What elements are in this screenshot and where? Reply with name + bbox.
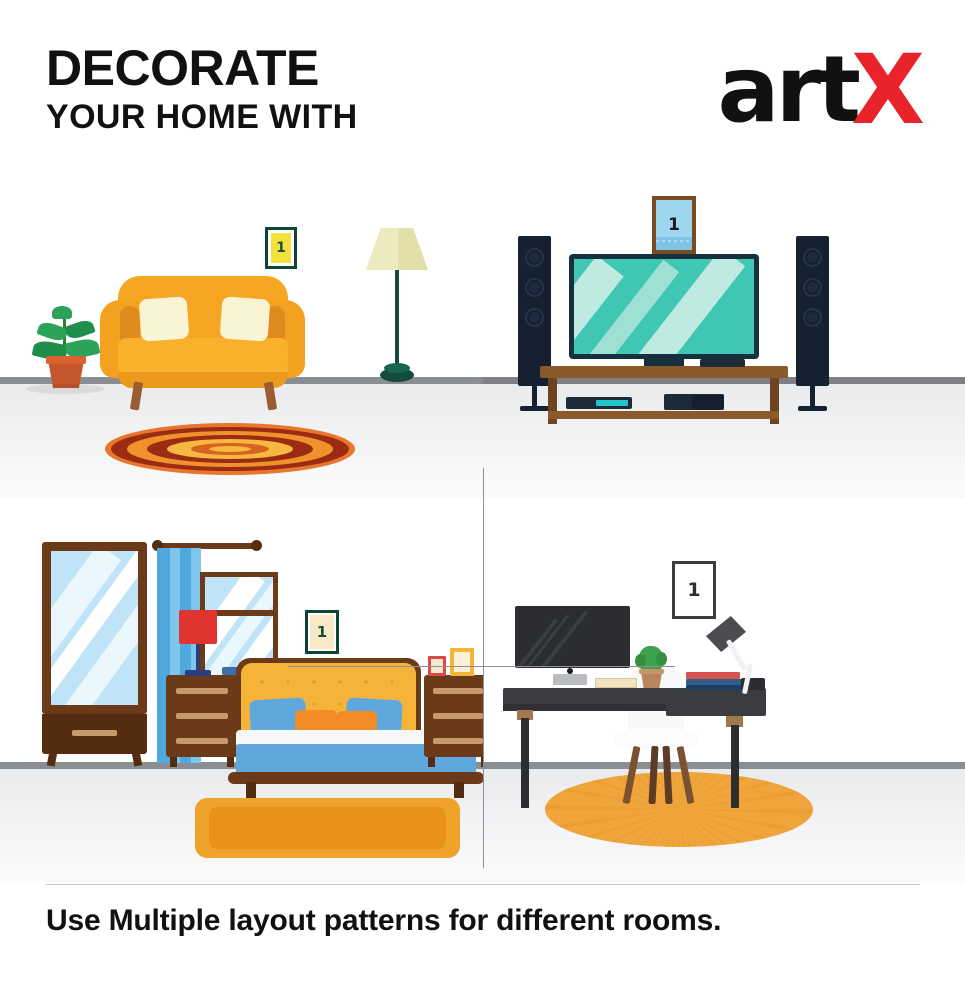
divider-vertical [483,468,484,868]
framed-picture-home-office[interactable]: 1 [672,561,716,619]
brand-logo: art X [718,36,923,136]
frame-artwork: 1 [675,564,713,616]
frame-mat: 1 [308,613,336,651]
frame-number: 1 [668,215,680,235]
office-side-desk [666,688,766,808]
frame-artwork: 1 [271,233,291,263]
media-device-top [700,359,745,367]
office-monitor [515,606,630,688]
living-room-floor-lamp [362,228,432,390]
plant-shadow [26,384,104,394]
framed-picture-bedroom[interactable]: 1 [305,610,339,654]
living-room-potted-plant [30,298,100,388]
scene-bedroom [0,500,483,883]
framed-picture-living-room[interactable]: 1 [265,227,297,269]
office-desk-lamp [698,608,778,690]
headline-line-2: YOUR HOME WITH [46,97,358,137]
frame-number: 1 [317,623,327,641]
tv-room-tv-stand [540,366,788,426]
frame-mat: 1 [268,230,294,266]
bedroom-photo-frames [428,648,483,678]
bedroom-nightstand-right [424,675,483,765]
divider-horizontal [288,666,675,667]
scene-home-office [483,500,965,883]
header: DECORATE YOUR HOME WITH art X [0,0,965,170]
frame-number: 1 [687,579,700,601]
scene-grid [0,168,965,883]
frame-artwork: 1 [310,615,334,649]
page-title: DECORATE YOUR HOME WITH [46,42,358,137]
bedroom-area-rug [195,798,460,858]
bottom-divider-rule [46,884,920,885]
tv-room-right-speaker [796,236,829,416]
brand-logo-accent: X [851,44,923,136]
poster-root: DECORATE YOUR HOME WITH art X [0,0,965,1000]
bedroom-mirror-dresser [42,542,147,764]
living-room-sofa [100,276,305,401]
frame-number: 1 [276,240,286,256]
framed-picture-tv-room[interactable]: 1 [652,196,696,254]
living-room-oval-rug [105,423,355,475]
office-desk [503,688,673,808]
office-papers [595,678,637,688]
headline-line-1: DECORATE [46,42,358,94]
caption-text: Use Multiple layout patterns for differe… [46,904,926,938]
scene-tv-room [483,168,965,498]
bedroom-table-lamp [176,610,221,678]
frame-artwork: 1 [656,200,692,250]
frame-water-detail [656,237,692,250]
bedroom-nightstand-left [166,675,238,765]
office-potted-plant [635,646,667,690]
brand-logo-text: art [718,44,857,136]
scene-living-room [0,168,483,498]
